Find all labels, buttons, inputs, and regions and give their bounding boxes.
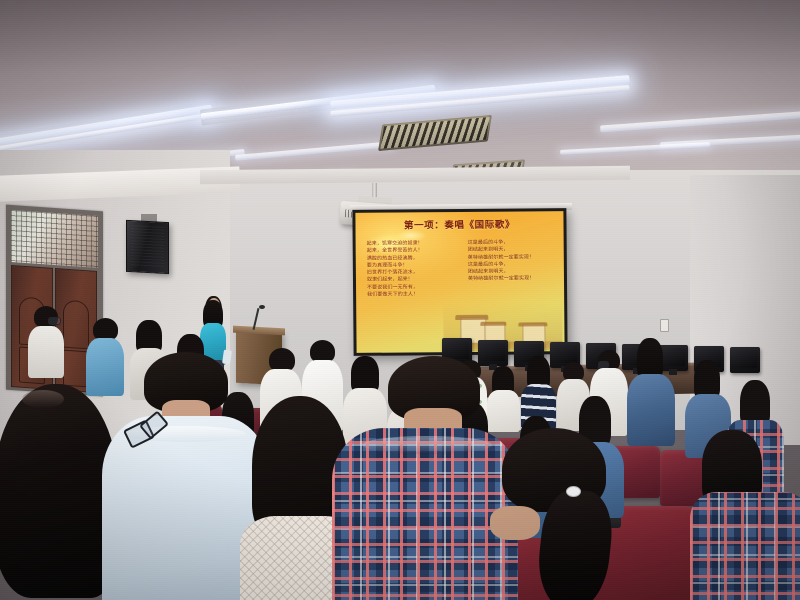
wall-speaker [126, 220, 169, 274]
pavilion-roof [518, 322, 546, 327]
hair-tie-icon [566, 486, 581, 497]
glasses-icon [48, 317, 61, 325]
torso [28, 326, 64, 378]
pavilion-roof [455, 315, 488, 321]
torso-plaid [690, 492, 800, 600]
pavilion-roof [480, 321, 506, 326]
projection-screen: 第一项：奏唱《国际歌》 起来，饥寒交迫的奴隶！ 起来，全世界受苦的人！ 满腔的热… [352, 208, 567, 356]
hair-part [22, 390, 64, 408]
monitor [730, 347, 760, 373]
photo-scene: 第一项：奏唱《国际歌》 起来，饥寒交迫的奴隶！ 起来，全世界受苦的人！ 满腔的热… [0, 0, 800, 600]
hair [0, 384, 118, 598]
foreground-person-right [690, 430, 800, 600]
slide-lyrics-right: 这是最后的斗争， 团结起来到明天， 英特纳雄耐尔就一定要实现！ 这是最后的斗争，… [468, 239, 535, 283]
door-transom-window [11, 210, 98, 268]
slide-title: 第一项：奏唱《国际歌》 [355, 216, 563, 232]
foreground-woman-ponytail [466, 428, 674, 600]
microphone-icon [259, 305, 265, 309]
slide-surface: 第一项：奏唱《国际歌》 起来，饥寒交迫的奴隶！ 起来，全世界受苦的人！ 满腔的热… [355, 211, 564, 353]
wall-outlet-icon [660, 319, 669, 332]
audience-member [26, 306, 66, 376]
slide-lyrics-left: 起来，饥寒交迫的奴隶！ 起来，全世界受苦的人！ 满腔的热血已经沸腾， 要为真理而… [367, 240, 424, 299]
neck [490, 506, 540, 540]
